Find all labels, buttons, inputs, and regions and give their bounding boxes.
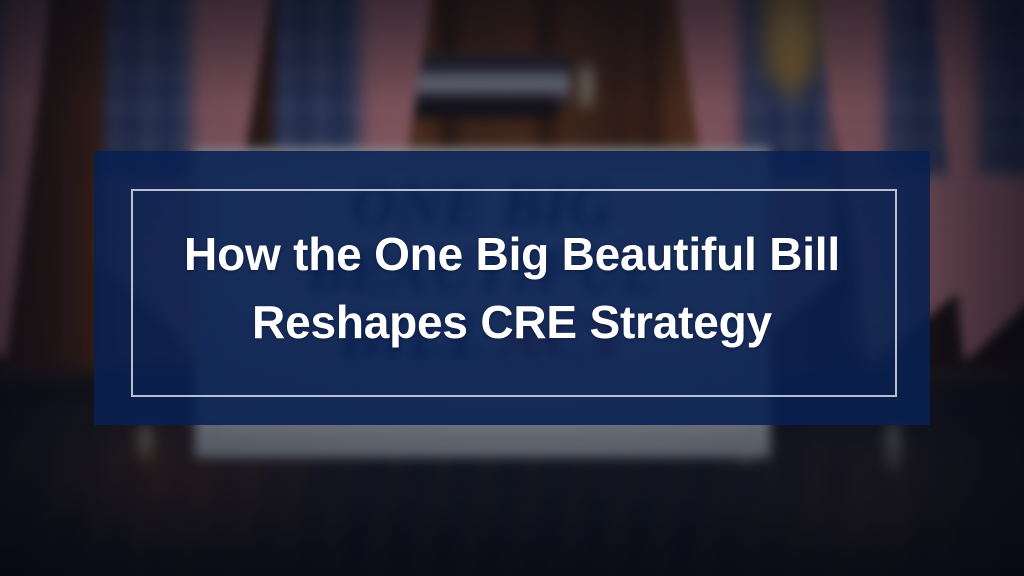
slide-canvas: ONE BIG BEAUTIFUL BILL ACT How the One B… <box>0 0 1024 576</box>
title-text-block: How the One Big Beautiful Bill Reshapes … <box>94 220 930 356</box>
title-line-2: Reshapes CRE Strategy <box>140 288 884 356</box>
title-line-1: How the One Big Beautiful Bill <box>140 220 884 288</box>
title-overlay-panel: How the One Big Beautiful Bill Reshapes … <box>94 151 930 425</box>
